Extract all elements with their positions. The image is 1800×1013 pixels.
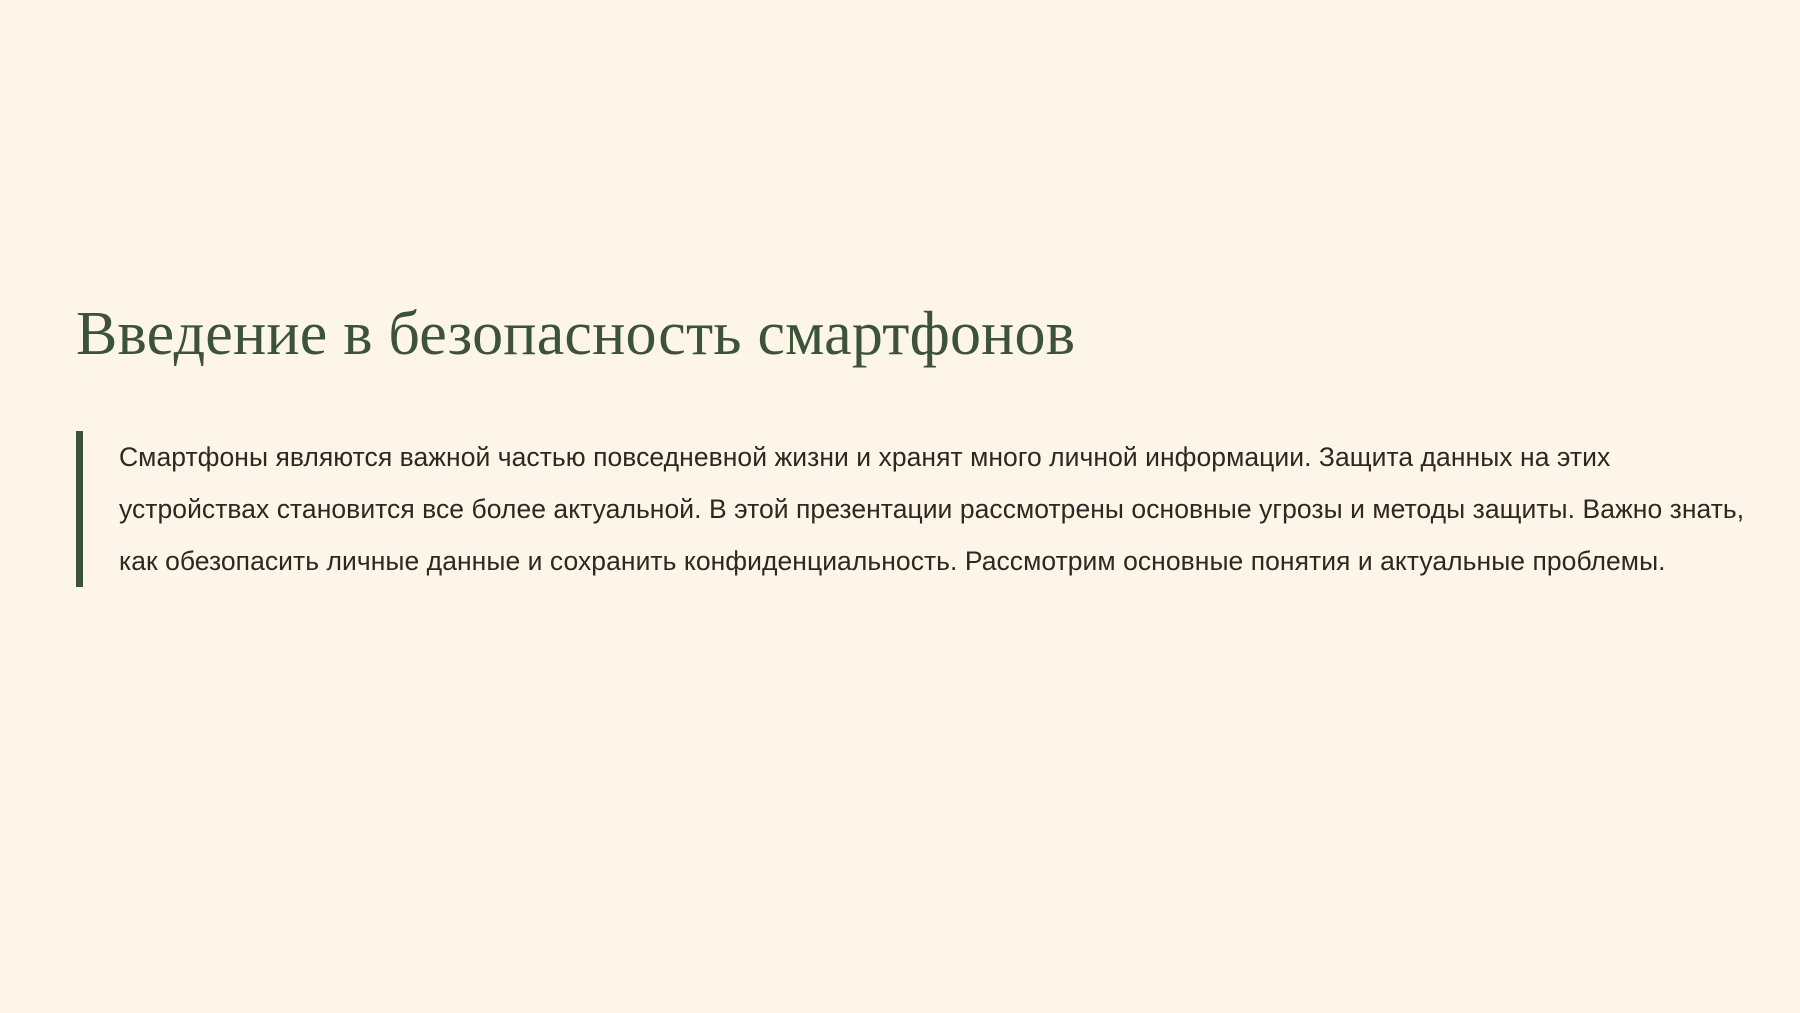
slide-content-area: Введение в безопасность смартфонов Смарт… [76,300,1748,587]
slide-body-paragraph: Смартфоны являются важной частью повседн… [119,431,1748,587]
presentation-slide: Введение в безопасность смартфонов Смарт… [0,0,1800,1013]
slide-title: Введение в безопасность смартфонов [76,300,1748,369]
left-accent-bar [76,431,83,587]
slide-body-block: Смартфоны являются важной частью повседн… [76,431,1748,587]
